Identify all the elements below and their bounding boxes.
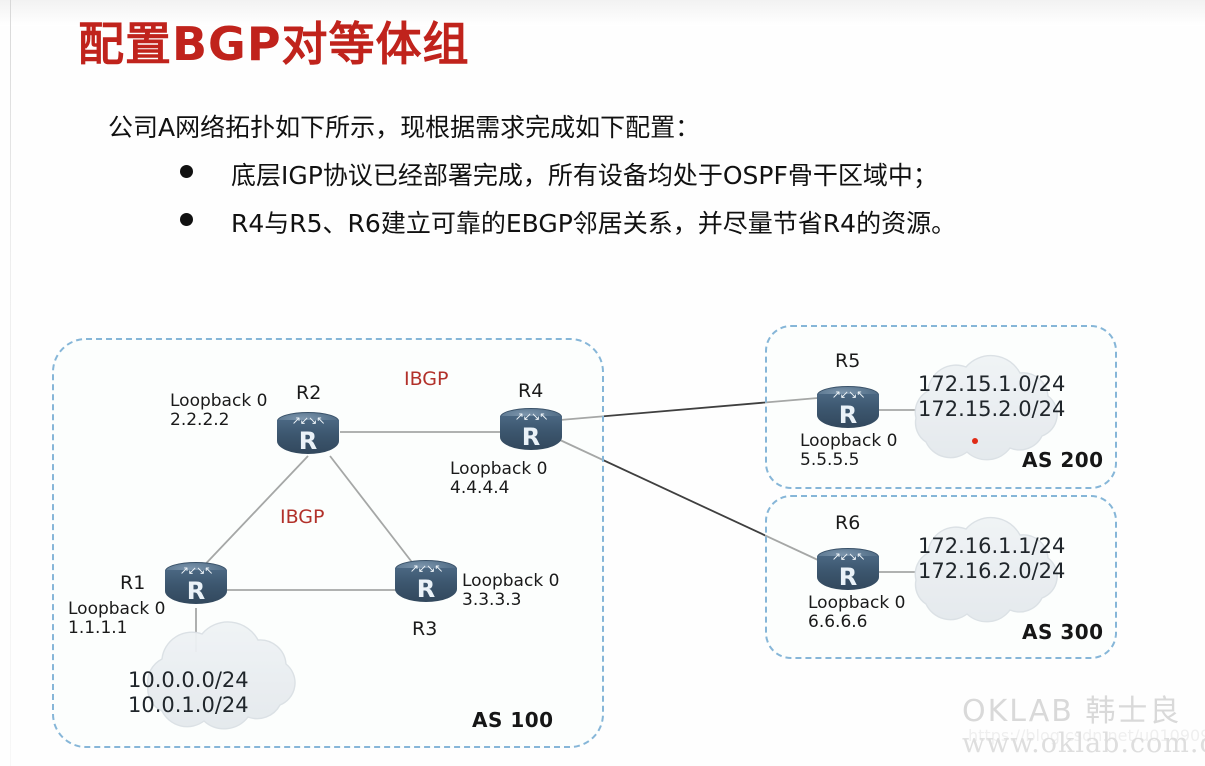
network-topology-diagram: AS 100 AS 200 AS 300 IBGP IBGP ↗↙↘↖ R R2… xyxy=(0,0,1205,766)
router-glyph-letter: R xyxy=(817,400,879,430)
cloud-networks-as200: 172.15.1.0/24 172.15.2.0/24 xyxy=(918,372,1065,422)
router-glyph-letter: R xyxy=(277,426,339,456)
loopback-ip-r5: 5.5.5.5 xyxy=(800,451,897,470)
as-label-100: AS 100 xyxy=(472,708,554,732)
cursor-dot-icon xyxy=(972,438,978,444)
cloud-network-line: 10.0.1.0/24 xyxy=(128,693,249,718)
loopback-ip-r1: 1.1.1.1 xyxy=(68,619,165,638)
cloud-network-line: 172.16.2.0/24 xyxy=(918,559,1065,584)
cloud-network-line: 172.16.1.1/24 xyxy=(918,534,1065,559)
loopback-label-r3: Loopback 0 xyxy=(462,572,559,591)
slide-canvas: 配置BGP对等体组 公司A网络拓扑如下所示，现根据需求完成如下配置： 底层IGP… xyxy=(0,0,1205,766)
router-label-r2: R2 xyxy=(296,382,321,404)
router-label-r1: R1 xyxy=(120,572,145,594)
loopback-ip-r2: 2.2.2.2 xyxy=(170,411,267,430)
router-icon-r5[interactable]: ↗↙↘↖ R xyxy=(817,386,879,434)
router-icon-r3[interactable]: ↗↙↘↖ R xyxy=(395,560,457,608)
router-glyph-letter: R xyxy=(500,422,562,452)
router-icon-r6[interactable]: ↗↙↘↖ R xyxy=(817,548,879,596)
router-glyph-letter: R xyxy=(817,562,879,592)
router-glyph-letter: R xyxy=(165,576,227,606)
loopback-ip-r6: 6.6.6.6 xyxy=(808,613,905,632)
cloud-network-line: 172.15.1.0/24 xyxy=(918,372,1065,397)
loopback-info-r5: Loopback 0 5.5.5.5 xyxy=(800,432,897,470)
router-icon-r4[interactable]: ↗↙↘↖ R xyxy=(500,408,562,456)
router-glyph-letter: R xyxy=(395,574,457,604)
loopback-label-r5: Loopback 0 xyxy=(800,432,897,451)
watermark-brand: OKLAB 韩士良 xyxy=(962,686,1181,730)
router-label-r6: R6 xyxy=(835,512,860,534)
loopback-ip-r4: 4.4.4.4 xyxy=(450,479,547,498)
cloud-networks-as100: 10.0.0.0/24 10.0.1.0/24 xyxy=(128,668,249,718)
loopback-label-r6: Loopback 0 xyxy=(808,594,905,613)
loopback-label-r1: Loopback 0 xyxy=(68,600,165,619)
cloud-network-line: 172.15.2.0/24 xyxy=(918,397,1065,422)
loopback-label-r4: Loopback 0 xyxy=(450,460,547,479)
router-icon-r1[interactable]: ↗↙↘↖ R xyxy=(165,562,227,610)
loopback-info-r6: Loopback 0 6.6.6.6 xyxy=(808,594,905,632)
loopback-info-r2: Loopback 0 2.2.2.2 xyxy=(170,392,267,430)
loopback-info-r4: Loopback 0 4.4.4.4 xyxy=(450,460,547,498)
loopback-info-r1: Loopback 0 1.1.1.1 xyxy=(68,600,165,638)
router-label-r3: R3 xyxy=(412,618,437,640)
cloud-network-line: 10.0.0.0/24 xyxy=(128,668,249,693)
as-label-300: AS 300 xyxy=(1022,620,1104,644)
as-label-200: AS 200 xyxy=(1022,448,1104,472)
ibgp-label-top: IBGP xyxy=(404,368,449,390)
ibgp-label-left: IBGP xyxy=(280,506,325,528)
watermark-site-url: www.oklab.com.cn xyxy=(962,728,1205,759)
router-icon-r2[interactable]: ↗↙↘↖ R xyxy=(277,412,339,460)
loopback-ip-r3: 3.3.3.3 xyxy=(462,591,559,610)
cloud-networks-as300: 172.16.1.1/24 172.16.2.0/24 xyxy=(918,534,1065,584)
loopback-info-r3: Loopback 0 3.3.3.3 xyxy=(462,572,559,610)
router-label-r5: R5 xyxy=(835,350,860,372)
loopback-label-r2: Loopback 0 xyxy=(170,392,267,411)
router-label-r4: R4 xyxy=(518,380,543,402)
